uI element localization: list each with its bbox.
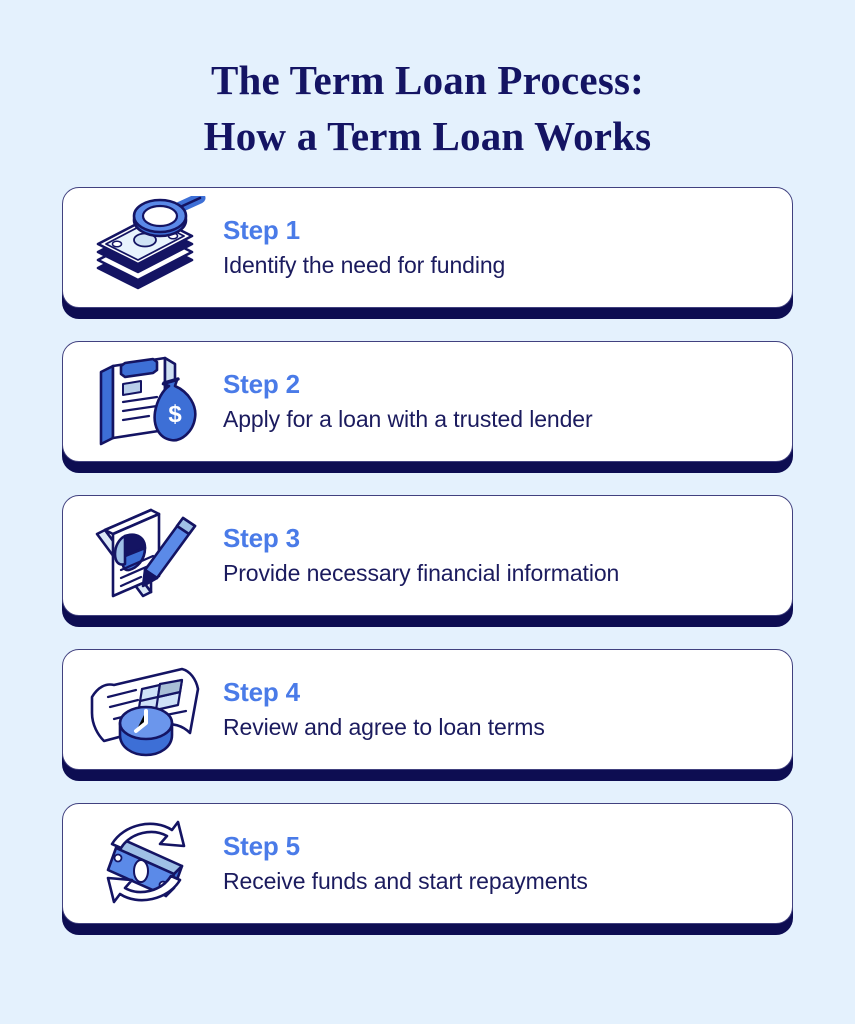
report-pen-icon	[77, 501, 217, 611]
step-description: Review and agree to loan terms	[223, 710, 545, 744]
step-text-3: Step 3 Provide necessary financial infor…	[217, 522, 619, 590]
step-label: Step 3	[223, 522, 619, 554]
step-card-3[interactable]: Step 3 Provide necessary financial infor…	[62, 495, 793, 616]
page-title: The Term Loan Process: How a Term Loan W…	[0, 0, 855, 164]
step-card-5[interactable]: Step 5 Receive funds and start repayment…	[62, 803, 793, 924]
step-text-1: Step 1 Identify the need for funding	[217, 214, 505, 282]
step-card-2[interactable]: $ Step 2 Apply for a loan with a trusted…	[62, 341, 793, 462]
step-description: Receive funds and start repayments	[223, 864, 588, 898]
step-description: Provide necessary financial information	[223, 556, 619, 590]
money-magnifier-icon	[77, 193, 217, 303]
list-item: Step 5 Receive funds and start repayment…	[62, 803, 793, 935]
step-description: Apply for a loan with a trusted lender	[223, 402, 593, 436]
step-text-2: Step 2 Apply for a loan with a trusted l…	[217, 368, 593, 436]
list-item: Step 3 Provide necessary financial infor…	[62, 495, 793, 627]
step-description: Identify the need for funding	[223, 248, 505, 282]
step-label: Step 2	[223, 368, 593, 400]
title-line-2: How a Term Loan Works	[0, 108, 855, 164]
list-item: Step 1 Identify the need for funding	[62, 187, 793, 319]
step-label: Step 4	[223, 676, 545, 708]
svg-text:$: $	[168, 401, 182, 428]
step-label: Step 5	[223, 830, 588, 862]
contract-clock-icon	[77, 655, 217, 765]
list-item: Step 4 Review and agree to loan terms	[62, 649, 793, 781]
step-label: Step 1	[223, 214, 505, 246]
cash-refresh-icon	[77, 809, 217, 919]
step-text-4: Step 4 Review and agree to loan terms	[217, 676, 545, 744]
list-item: $ Step 2 Apply for a loan with a trusted…	[62, 341, 793, 473]
title-line-1: The Term Loan Process:	[0, 52, 855, 108]
infographic-root: The Term Loan Process: How a Term Loan W…	[0, 0, 855, 1024]
step-text-5: Step 5 Receive funds and start repayment…	[217, 830, 588, 898]
step-card-4[interactable]: Step 4 Review and agree to loan terms	[62, 649, 793, 770]
clipboard-moneybag-icon: $	[77, 347, 217, 457]
step-card-1[interactable]: Step 1 Identify the need for funding	[62, 187, 793, 308]
steps-list: Step 1 Identify the need for funding	[0, 187, 855, 935]
